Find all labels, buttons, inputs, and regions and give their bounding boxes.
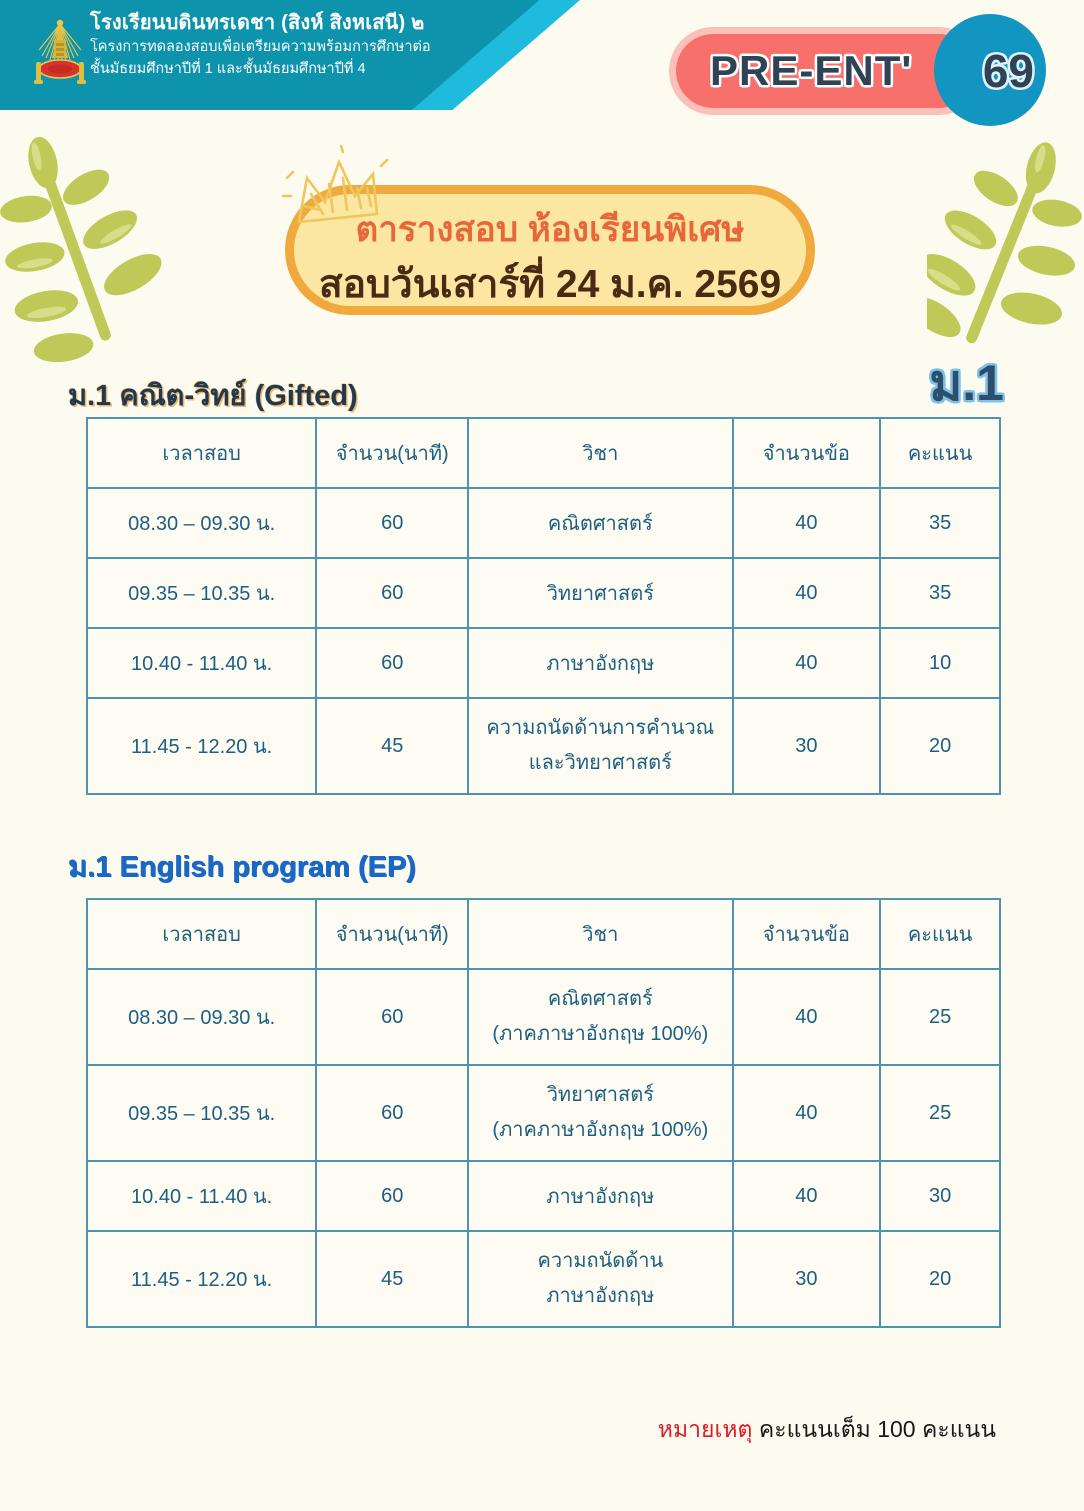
cell-score: 25: [880, 1065, 1000, 1161]
cell-subject-main: ความถนัดด้านการคำนวณ: [471, 711, 729, 746]
project-line-2: ชั้นมัธยมศึกษาปีที่ 1 และชั้นมัธยมศึกษาป…: [90, 59, 431, 81]
cell-subject-note: (ภาคภาษาอังกฤษ 100%): [471, 1113, 729, 1148]
column-header-time: เวลาสอบ: [87, 899, 316, 969]
cell-count: 40: [733, 1065, 881, 1161]
table-row: 09.35 – 10.35 น. 60 วิทยาศาสตร์ (ภาคภาษา…: [87, 1065, 1000, 1161]
cell-time: 09.35 – 10.35 น.: [87, 558, 316, 628]
cell-count: 40: [733, 558, 881, 628]
cell-minutes: 60: [316, 558, 468, 628]
column-header-subject: วิชา: [468, 899, 732, 969]
schedule-table-gifted: เวลาสอบ จำนวน(นาที) วิชา จำนวนข้อ คะแนน …: [86, 417, 1001, 795]
cell-subject-main: วิทยาศาสตร์: [471, 1078, 729, 1113]
cell-score: 25: [880, 969, 1000, 1065]
footer-note-label: หมายเหตุ: [658, 1416, 753, 1442]
cell-minutes: 45: [316, 1231, 468, 1327]
cell-count: 40: [733, 1161, 881, 1231]
schedule-table-ep: เวลาสอบ จำนวน(นาที) วิชา จำนวนข้อ คะแนน …: [86, 898, 1001, 1328]
cell-minutes: 60: [316, 1065, 468, 1161]
cell-score: 30: [880, 1161, 1000, 1231]
column-header-subject: วิชา: [468, 418, 732, 488]
column-header-time: เวลาสอบ: [87, 418, 316, 488]
pre-ent-label: PRE-ENT': [710, 47, 912, 95]
grade-badge: ม.1: [929, 344, 1004, 423]
leaf-branch-icon-right: [927, 140, 1084, 365]
cell-subject-main: คณิตศาสตร์: [471, 982, 729, 1017]
cell-time: 10.40 - 11.40 น.: [87, 1161, 316, 1231]
title-line-1: ตารางสอบ ห้องเรียนพิเศษ: [285, 202, 815, 257]
pre-ent-year: 69: [983, 44, 1034, 98]
cell-minutes: 45: [316, 698, 468, 794]
table-row: 09.35 – 10.35 น. 60 วิทยาศาสตร์ 40 35: [87, 558, 1000, 628]
cell-subject-note: และวิทยาศาสตร์: [471, 746, 729, 781]
cell-time: 11.45 - 12.20 น.: [87, 1231, 316, 1327]
cell-subject: คณิตศาสตร์ (ภาคภาษาอังกฤษ 100%): [468, 969, 732, 1065]
table-row: 08.30 – 09.30 น. 60 คณิตศาสตร์ (ภาคภาษาอ…: [87, 969, 1000, 1065]
cell-score: 20: [880, 698, 1000, 794]
cell-count: 40: [733, 488, 881, 558]
table-row: 10.40 - 11.40 น. 60 ภาษาอังกฤษ 40 10: [87, 628, 1000, 698]
cell-subject: ความถนัดด้านการคำนวณ และวิทยาศาสตร์: [468, 698, 732, 794]
cell-count: 30: [733, 698, 881, 794]
cell-minutes: 60: [316, 1161, 468, 1231]
cell-subject: ความถนัดด้าน ภาษาอังกฤษ: [468, 1231, 732, 1327]
cell-count: 40: [733, 628, 881, 698]
column-header-minutes: จำนวน(นาที): [316, 899, 468, 969]
table-row: 08.30 – 09.30 น. 60 คณิตศาสตร์ 40 35: [87, 488, 1000, 558]
cell-count: 40: [733, 969, 881, 1065]
cell-subject: วิทยาศาสตร์ (ภาคภาษาอังกฤษ 100%): [468, 1065, 732, 1161]
cell-score: 35: [880, 488, 1000, 558]
cell-subject: ภาษาอังกฤษ: [468, 628, 732, 698]
title-banner: ตารางสอบ ห้องเรียนพิเศษ สอบวันเสาร์ที่ 2…: [285, 150, 815, 320]
cell-subject-note: ภาษาอังกฤษ: [471, 1279, 729, 1314]
cell-minutes: 60: [316, 488, 468, 558]
cell-score: 10: [880, 628, 1000, 698]
leaf-branch-icon-left: [0, 132, 172, 362]
header-text-block: โรงเรียนบดินทรเดชา (สิงห์ สิงหเสนี) ๒ โค…: [90, 10, 431, 81]
table-row: 10.40 - 11.40 น. 60 ภาษาอังกฤษ 40 30: [87, 1161, 1000, 1231]
table-header-row: เวลาสอบ จำนวน(นาที) วิชา จำนวนข้อ คะแนน: [87, 899, 1000, 969]
cell-subject: วิทยาศาสตร์: [468, 558, 732, 628]
cell-time: 10.40 - 11.40 น.: [87, 628, 316, 698]
cell-score: 35: [880, 558, 1000, 628]
cell-count: 30: [733, 1231, 881, 1327]
title-line-2: สอบวันเสาร์ที่ 24 ม.ค. 2569: [285, 253, 815, 315]
cell-minutes: 60: [316, 969, 468, 1065]
table-row: 11.45 - 12.20 น. 45 ความถนัดด้าน ภาษาอัง…: [87, 1231, 1000, 1327]
school-name: โรงเรียนบดินทรเดชา (สิงห์ สิงหเสนี) ๒: [90, 10, 431, 37]
section-heading-gifted: ม.1 คณิต-วิทย์ (Gifted): [68, 372, 358, 418]
pre-ent-badge: PRE-ENT' 69: [676, 28, 1046, 114]
cell-score: 20: [880, 1231, 1000, 1327]
column-header-score: คะแนน: [880, 899, 1000, 969]
table-row: 11.45 - 12.20 น. 45 ความถนัดด้านการคำนวณ…: [87, 698, 1000, 794]
cell-subject-main: ความถนัดด้าน: [471, 1244, 729, 1279]
cell-subject: ภาษาอังกฤษ: [468, 1161, 732, 1231]
section-heading-ep: ม.1 English program (EP): [68, 843, 416, 889]
project-line-1: โครงการทดลองสอบเพื่อเตรียมความพร้อมการศึ…: [90, 37, 431, 59]
thai-royal-crown-emblem-icon: [32, 12, 88, 92]
column-header-minutes: จำนวน(นาที): [316, 418, 468, 488]
footer-note-body: คะแนนเต็ม 100 คะแนน: [752, 1416, 996, 1442]
column-header-count: จำนวนข้อ: [733, 418, 881, 488]
cell-subject-note: (ภาคภาษาอังกฤษ 100%): [471, 1017, 729, 1052]
cell-time: 08.30 – 09.30 น.: [87, 969, 316, 1065]
cell-time: 08.30 – 09.30 น.: [87, 488, 316, 558]
column-header-score: คะแนน: [880, 418, 1000, 488]
cell-minutes: 60: [316, 628, 468, 698]
column-header-count: จำนวนข้อ: [733, 899, 881, 969]
footer-note: หมายเหตุ คะแนนเต็ม 100 คะแนน: [658, 1412, 996, 1448]
table-header-row: เวลาสอบ จำนวน(นาที) วิชา จำนวนข้อ คะแนน: [87, 418, 1000, 488]
cell-time: 09.35 – 10.35 น.: [87, 1065, 316, 1161]
cell-time: 11.45 - 12.20 น.: [87, 698, 316, 794]
cell-subject: คณิตศาสตร์: [468, 488, 732, 558]
